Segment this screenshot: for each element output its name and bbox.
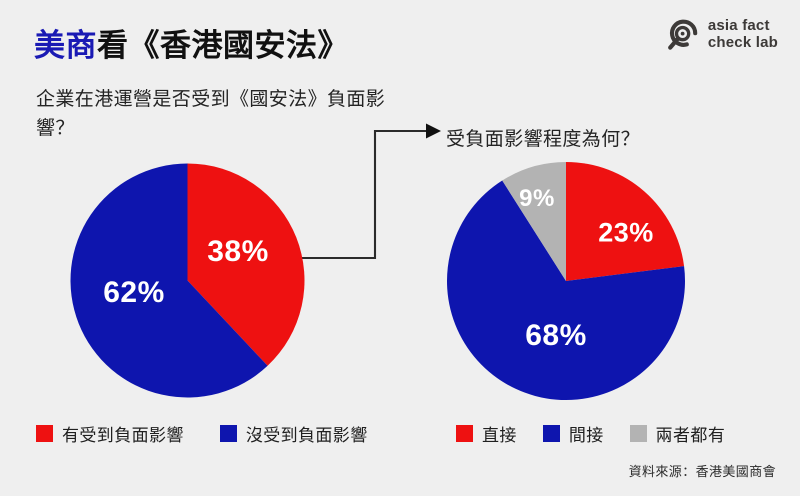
question-left: 企業在港運營是否受到《國安法》負面影響？ (36, 86, 416, 144)
legend-label-both: 兩者都有 (656, 421, 726, 446)
legend-item-affected: 有受到負面影響 (36, 421, 184, 446)
legend-label-affected: 有受到負面影響 (62, 421, 184, 446)
legend-item-both: 兩者都有 (630, 421, 726, 446)
page-title-accent: 美商 (34, 28, 97, 63)
legend-label-not-affected: 沒受到負面影響 (246, 421, 368, 446)
legend-swatch-blue-icon (220, 425, 237, 442)
question-right: 受負面影響程度為何？ (446, 124, 640, 151)
brand-line-1: asia fact (708, 18, 778, 35)
legend-swatch-red-icon (36, 425, 53, 442)
legend-swatch-gray-icon (630, 425, 647, 442)
page-title-rest: 看《香港國安法》 (97, 28, 349, 63)
legend-swatch-blue-icon (543, 425, 560, 442)
infographic-canvas: asia fact check lab 美商看《香港國安法》 企業在港運營是否受… (0, 0, 800, 496)
legend-right: 直接 間接 兩者都有 (456, 421, 725, 446)
legend-item-direct: 直接 (456, 421, 517, 446)
pie-chart-right (446, 161, 686, 401)
legend-label-indirect: 間接 (569, 421, 604, 446)
legend-left: 有受到負面影響 沒受到負面影響 (36, 421, 368, 446)
source-note: 資料來源：香港美國商會 (629, 461, 776, 480)
magnifier-logo-icon (665, 18, 699, 52)
brand-line-2: check lab (708, 35, 778, 52)
brand-wordmark: asia fact check lab (708, 18, 778, 52)
legend-item-indirect: 間接 (543, 421, 604, 446)
pie-slices-right (447, 162, 685, 400)
page-title: 美商看《香港國安法》 (34, 20, 349, 65)
legend-label-direct: 直接 (482, 421, 517, 446)
brand-logo: asia fact check lab (665, 18, 778, 52)
pie-label-right-red: 23% (598, 218, 654, 249)
pie-label-left-blue: 62% (103, 276, 165, 310)
pie-label-left-red: 38% (207, 235, 269, 269)
legend-swatch-red-icon (456, 425, 473, 442)
pie-label-right-blue: 68% (525, 319, 587, 353)
legend-item-not-affected: 沒受到負面影響 (220, 421, 368, 446)
pie-label-right-gray: 9% (519, 185, 555, 213)
